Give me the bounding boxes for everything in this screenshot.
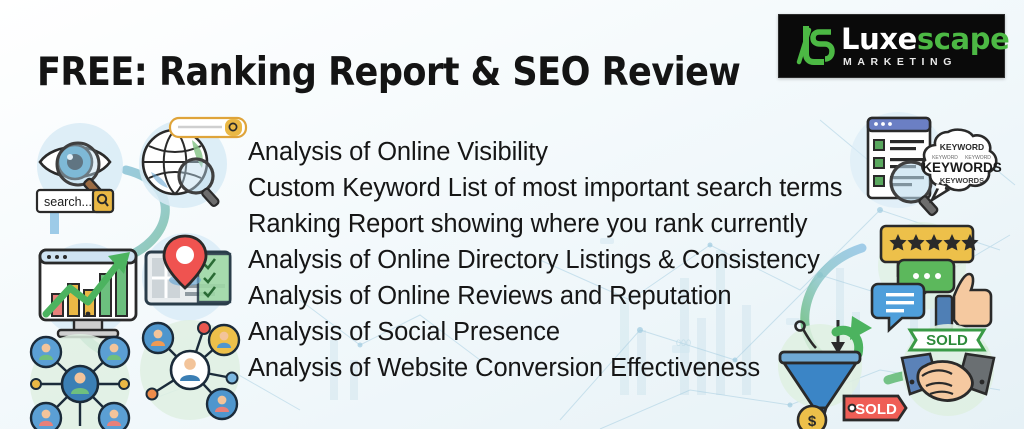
seo-promo-banner: 000 Luxescape MARKETING FREE: Ranking Re… bbox=[0, 0, 1024, 429]
handshake-sold-label: SOLD bbox=[926, 332, 968, 349]
logo-word-scape: scape bbox=[917, 22, 1009, 56]
logo-text-block: Luxescape MARKETING bbox=[841, 25, 1009, 68]
search-placeholder-text: search... bbox=[44, 195, 92, 209]
list-item: Analysis of Online Visibility bbox=[248, 134, 842, 170]
ls-monogram-icon bbox=[791, 26, 837, 66]
list-item: Analysis of Website Conversion Effective… bbox=[248, 350, 842, 386]
list-item: Analysis of Online Directory Listings & … bbox=[248, 242, 842, 278]
list-item: Analysis of Online Reviews and Reputatio… bbox=[248, 278, 842, 314]
funnel-sold-label: SOLD bbox=[855, 401, 897, 418]
keywords-label-main: KEYWORDS bbox=[922, 160, 1002, 175]
list-item: Analysis of Social Presence bbox=[248, 314, 842, 350]
svg-text:$: $ bbox=[808, 413, 817, 429]
logo-word-luxe: Luxe bbox=[841, 22, 917, 56]
logo-wordmark: Luxescape bbox=[841, 25, 1009, 54]
list-item: Ranking Report showing where you rank cu… bbox=[248, 206, 842, 242]
luxescape-logo[interactable]: Luxescape MARKETING bbox=[778, 14, 1005, 78]
feature-list: Analysis of Online Visibility Custom Key… bbox=[248, 134, 842, 386]
left-icon-cluster: search... bbox=[18, 112, 258, 422]
search-input-illustration: search... bbox=[37, 190, 113, 212]
page-title: FREE: Ranking Report & SEO Review bbox=[37, 50, 740, 95]
keyword-label-small: KEYWORD bbox=[940, 142, 984, 152]
logo-tagline: MARKETING bbox=[843, 57, 1009, 68]
list-item: Custom Keyword List of most important se… bbox=[248, 170, 842, 206]
svg-text:KEYWORDS: KEYWORDS bbox=[940, 176, 984, 185]
